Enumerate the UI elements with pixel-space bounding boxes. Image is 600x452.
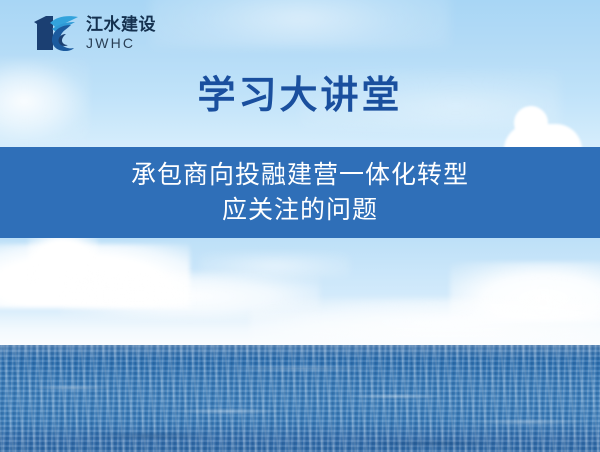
logo-company-name-cn: 江水建设 bbox=[86, 16, 156, 33]
presentation-slide: 江水建设 JWHC 学习大讲堂 承包商向投融建营一体化转型 应关注的问题 bbox=[0, 0, 600, 452]
sea-background bbox=[0, 345, 600, 452]
sea-ripple-layer-4 bbox=[0, 345, 600, 452]
subtitle-banner: 承包商向投融建营一体化转型 应关注的问题 bbox=[0, 147, 600, 238]
horizon-haze-band bbox=[0, 311, 600, 345]
subtitle-line-1: 承包商向投融建营一体化转型 bbox=[131, 158, 469, 193]
logo-company-name-en: JWHC bbox=[86, 36, 156, 50]
sky-lower-background bbox=[0, 238, 600, 345]
subtitle-line-2: 应关注的问题 bbox=[222, 193, 378, 228]
jwhc-wave-monogram-icon bbox=[30, 13, 80, 53]
slide-main-title: 学习大讲堂 bbox=[0, 76, 600, 118]
logo-text-block: 江水建设 JWHC bbox=[86, 16, 156, 50]
cloud-wisp-top bbox=[150, 0, 450, 48]
company-logo: 江水建设 JWHC bbox=[30, 13, 156, 53]
